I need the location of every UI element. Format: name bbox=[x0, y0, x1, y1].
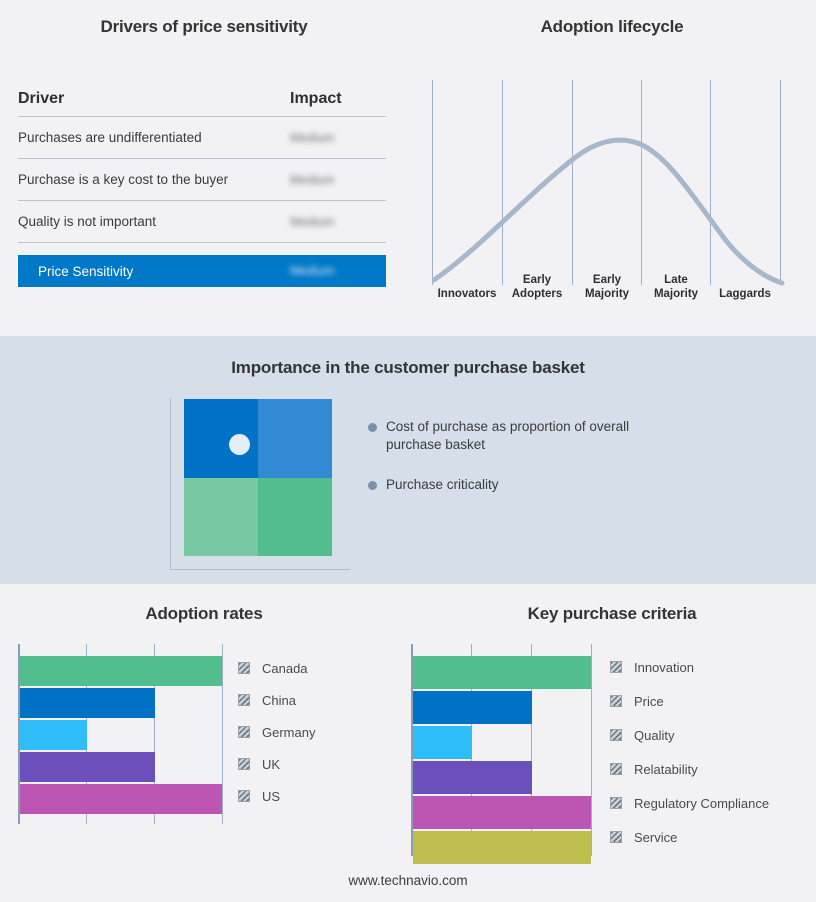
list-item: Canada bbox=[238, 652, 315, 684]
summary-impact-value-redacted: Medium bbox=[290, 264, 334, 278]
bar-price bbox=[413, 691, 532, 724]
basket-legend-label: Purchase criticality bbox=[386, 476, 499, 494]
lifecycle-label-laggards: Laggards bbox=[706, 287, 784, 301]
hatch-swatch-icon bbox=[238, 790, 250, 802]
legend-label: Price bbox=[634, 694, 664, 709]
adoption-rates-bar-chart bbox=[18, 644, 223, 824]
list-item: Innovation bbox=[610, 650, 769, 684]
list-item: China bbox=[238, 684, 315, 716]
legend-label: US bbox=[262, 789, 280, 804]
impact-value-redacted: Medium bbox=[290, 215, 334, 229]
basket-x-axis bbox=[170, 569, 350, 570]
criteria-panel-title: Key purchase criteria bbox=[408, 604, 816, 624]
top-section: Drivers of price sensitivity Driver Impa… bbox=[0, 0, 816, 336]
basket-legend: Cost of purchase as proportion of overal… bbox=[368, 418, 668, 516]
legend-label: Regulatory Compliance bbox=[634, 796, 769, 811]
legend-label: UK bbox=[262, 757, 280, 772]
impact-value-redacted: Medium bbox=[290, 131, 334, 145]
key-purchase-criteria-bar-chart bbox=[411, 644, 601, 856]
drivers-table: Driver Impact Purchases are undifferenti… bbox=[18, 90, 386, 287]
quadrant-bottom-right bbox=[258, 478, 332, 557]
criteria-plot-area bbox=[411, 644, 601, 856]
impact-cell: Medium bbox=[290, 213, 386, 231]
bar-china bbox=[20, 688, 155, 718]
quadrant-top-left bbox=[184, 399, 258, 478]
basket-marker-circle bbox=[229, 434, 250, 455]
list-item: Regulatory Compliance bbox=[610, 786, 769, 820]
adoption-legend: Canada China Germany UK US bbox=[238, 652, 315, 812]
list-item: Price bbox=[610, 684, 769, 718]
legend-label: China bbox=[262, 693, 296, 708]
criteria-legend: Innovation Price Quality Relatability Re… bbox=[610, 650, 769, 854]
purchase-basket-quadrant-chart bbox=[170, 398, 340, 564]
lifecycle-label-late-majority: LateMajority bbox=[637, 273, 715, 301]
bullet-icon bbox=[368, 481, 377, 490]
panel-adoption-rates: Adoption rates Canada China bbox=[0, 584, 408, 874]
criteria-gridline bbox=[591, 644, 592, 856]
list-item: Cost of purchase as proportion of overal… bbox=[368, 418, 668, 454]
hatch-swatch-icon bbox=[238, 694, 250, 706]
lifecycle-curve bbox=[432, 80, 792, 286]
adoption-plot-area bbox=[18, 644, 223, 824]
hatch-swatch-icon bbox=[610, 729, 622, 741]
driver-label: Purchases are undifferentiated bbox=[18, 130, 290, 145]
hatch-swatch-icon bbox=[238, 662, 250, 674]
legend-label: Innovation bbox=[634, 660, 694, 675]
bar-germany bbox=[20, 720, 87, 750]
basket-legend-label: Cost of purchase as proportion of overal… bbox=[386, 418, 668, 454]
lifecycle-label-early-majority: EarlyMajority bbox=[568, 273, 646, 301]
hatch-swatch-icon bbox=[610, 831, 622, 843]
column-header-impact: Impact bbox=[290, 90, 386, 108]
panel-adoption-lifecycle: Adoption lifecycle Innovators EarlyAdopt… bbox=[408, 0, 816, 336]
hatch-swatch-icon bbox=[610, 763, 622, 775]
list-item: Quality bbox=[610, 718, 769, 752]
legend-label: Service bbox=[634, 830, 677, 845]
bar-quality bbox=[413, 726, 472, 759]
adoption-panel-title: Adoption rates bbox=[0, 604, 408, 624]
panel-drivers-of-price-sensitivity: Drivers of price sensitivity Driver Impa… bbox=[0, 0, 408, 336]
impact-cell: Medium bbox=[290, 129, 386, 147]
table-row: Quality is not important Medium bbox=[18, 201, 386, 243]
footer-url: www.technavio.com bbox=[0, 873, 816, 888]
driver-label: Purchase is a key cost to the buyer bbox=[18, 172, 290, 187]
middle-section-purchase-basket: Importance in the customer purchase bask… bbox=[0, 336, 816, 584]
summary-label: Price Sensitivity bbox=[38, 264, 290, 279]
summary-impact-cell: Medium bbox=[290, 262, 386, 280]
list-item: Service bbox=[610, 820, 769, 854]
driver-label: Quality is not important bbox=[18, 214, 290, 229]
bullet-icon bbox=[368, 423, 377, 432]
drivers-table-header: Driver Impact bbox=[18, 90, 386, 117]
bar-uk bbox=[20, 752, 155, 782]
hatch-swatch-icon bbox=[610, 695, 622, 707]
list-item: UK bbox=[238, 748, 315, 780]
hatch-swatch-icon bbox=[610, 797, 622, 809]
lifecycle-label-innovators: Innovators bbox=[428, 287, 506, 301]
hatch-swatch-icon bbox=[610, 661, 622, 673]
list-item: Purchase criticality bbox=[368, 476, 668, 494]
legend-label: Canada bbox=[262, 661, 308, 676]
legend-label: Relatability bbox=[634, 762, 698, 777]
panel-key-purchase-criteria: Key purchase criteria Innovation bbox=[408, 584, 816, 874]
lifecycle-panel-title: Adoption lifecycle bbox=[408, 17, 816, 37]
hatch-swatch-icon bbox=[238, 726, 250, 738]
bar-service bbox=[413, 831, 591, 864]
list-item: Germany bbox=[238, 716, 315, 748]
table-row: Purchases are undifferentiated Medium bbox=[18, 117, 386, 159]
adoption-gridline bbox=[222, 644, 223, 824]
legend-label: Quality bbox=[634, 728, 674, 743]
bar-regulatory-compliance bbox=[413, 796, 591, 829]
list-item: Relatability bbox=[610, 752, 769, 786]
drivers-panel-title: Drivers of price sensitivity bbox=[0, 17, 408, 37]
bar-us bbox=[20, 784, 222, 814]
price-sensitivity-summary-row: Price Sensitivity Medium bbox=[18, 255, 386, 287]
list-item: US bbox=[238, 780, 315, 812]
column-header-driver: Driver bbox=[18, 90, 290, 108]
bar-innovation bbox=[413, 656, 591, 689]
bar-canada bbox=[20, 656, 222, 686]
lifecycle-label-early-adopters: EarlyAdopters bbox=[498, 273, 576, 301]
basket-panel-title: Importance in the customer purchase bask… bbox=[0, 358, 816, 378]
quadrant-top-right bbox=[258, 399, 332, 478]
legend-label: Germany bbox=[262, 725, 315, 740]
impact-cell: Medium bbox=[290, 171, 386, 189]
basket-quadrants bbox=[184, 399, 332, 556]
impact-value-redacted: Medium bbox=[290, 173, 334, 187]
hatch-swatch-icon bbox=[238, 758, 250, 770]
table-row: Purchase is a key cost to the buyer Medi… bbox=[18, 159, 386, 201]
quadrant-bottom-left bbox=[184, 478, 258, 557]
bottom-section: Adoption rates Canada China bbox=[0, 584, 816, 902]
adoption-lifecycle-chart: Innovators EarlyAdopters EarlyMajority L… bbox=[432, 80, 792, 310]
bar-relatability bbox=[413, 761, 532, 794]
basket-y-axis bbox=[170, 398, 171, 570]
